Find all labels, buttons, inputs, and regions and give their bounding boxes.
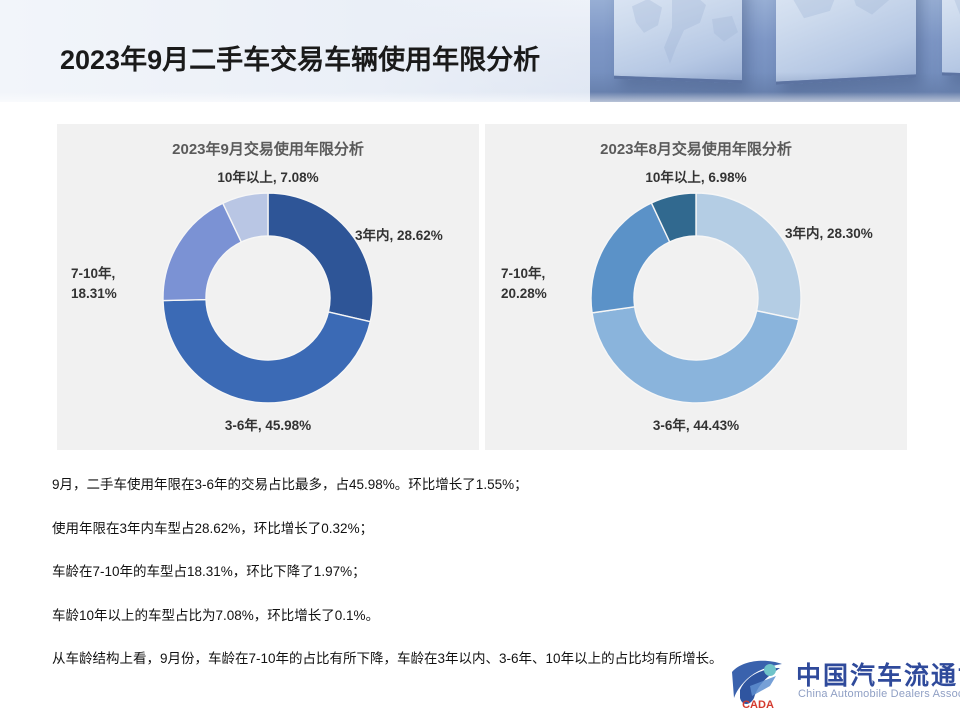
chart-panel-august: 2023年8月交易使用年限分析 10年以上, 6.98% 3年内, 28.30%…: [485, 124, 907, 450]
donut-svg: [581, 183, 811, 413]
donut-slice: [163, 300, 370, 403]
decor-cube-icon: [942, 0, 960, 79]
slice-label-3-6: 3-6年, 45.98%: [57, 416, 479, 436]
slice-label-within-3: 3年内, 28.62%: [355, 226, 443, 246]
page-title: 2023年9月二手车交易车辆使用年限分析: [60, 38, 540, 77]
analysis-line: 9月，二手车使用年限在3-6年的交易占比最多，占45.98%。环比增长了1.55…: [52, 478, 932, 492]
world-map-icon: [942, 0, 960, 76]
cada-logo: CADA 中国汽车流通协会 China Automobile Dealers A…: [726, 652, 954, 714]
chart-panel-september: 2023年9月交易使用年限分析 10年以上, 7.08% 3年内, 28.62%…: [57, 124, 479, 450]
slice-label-7-10: 7-10年, 18.31%: [71, 264, 117, 303]
donut-slice: [592, 307, 799, 403]
donut-slice: [591, 203, 670, 313]
analysis-line: 车龄10年以上的车型占比为7.08%，环比增长了0.1%。: [52, 609, 932, 623]
cada-emblem-icon: CADA: [726, 656, 790, 710]
cada-logo-en: China Automobile Dealers Association: [798, 688, 960, 700]
donut-svg: [153, 183, 383, 413]
charts-row: 2023年9月交易使用年限分析 10年以上, 7.08% 3年内, 28.62%…: [57, 124, 908, 450]
slice-label-10-plus: 10年以上, 7.08%: [57, 168, 479, 188]
world-map-icon: [614, 0, 742, 80]
slice-label-within-3: 3年内, 28.30%: [785, 224, 873, 244]
analysis-line: 使用年限在3年内车型占28.62%，环比增长了0.32%；: [52, 522, 932, 536]
slice-label-10-plus: 10年以上, 6.98%: [485, 168, 907, 188]
donut-slice: [696, 193, 801, 320]
cada-mark-text: CADA: [742, 699, 774, 710]
analysis-line: 车龄在7-10年的车型占18.31%，环比下降了1.97%；: [52, 565, 932, 579]
cada-logo-cn: 中国汽车流通协会: [796, 656, 960, 692]
slice-label-3-6: 3-6年, 44.43%: [485, 416, 907, 436]
decor-cube-icon: [614, 0, 742, 83]
slice-label-7-10: 7-10年, 20.28%: [501, 264, 547, 303]
banner-sheen: [0, 92, 960, 102]
decor-cubes-image: [590, 0, 960, 102]
world-map-icon: [776, 0, 916, 82]
donut-slice: [268, 193, 373, 322]
